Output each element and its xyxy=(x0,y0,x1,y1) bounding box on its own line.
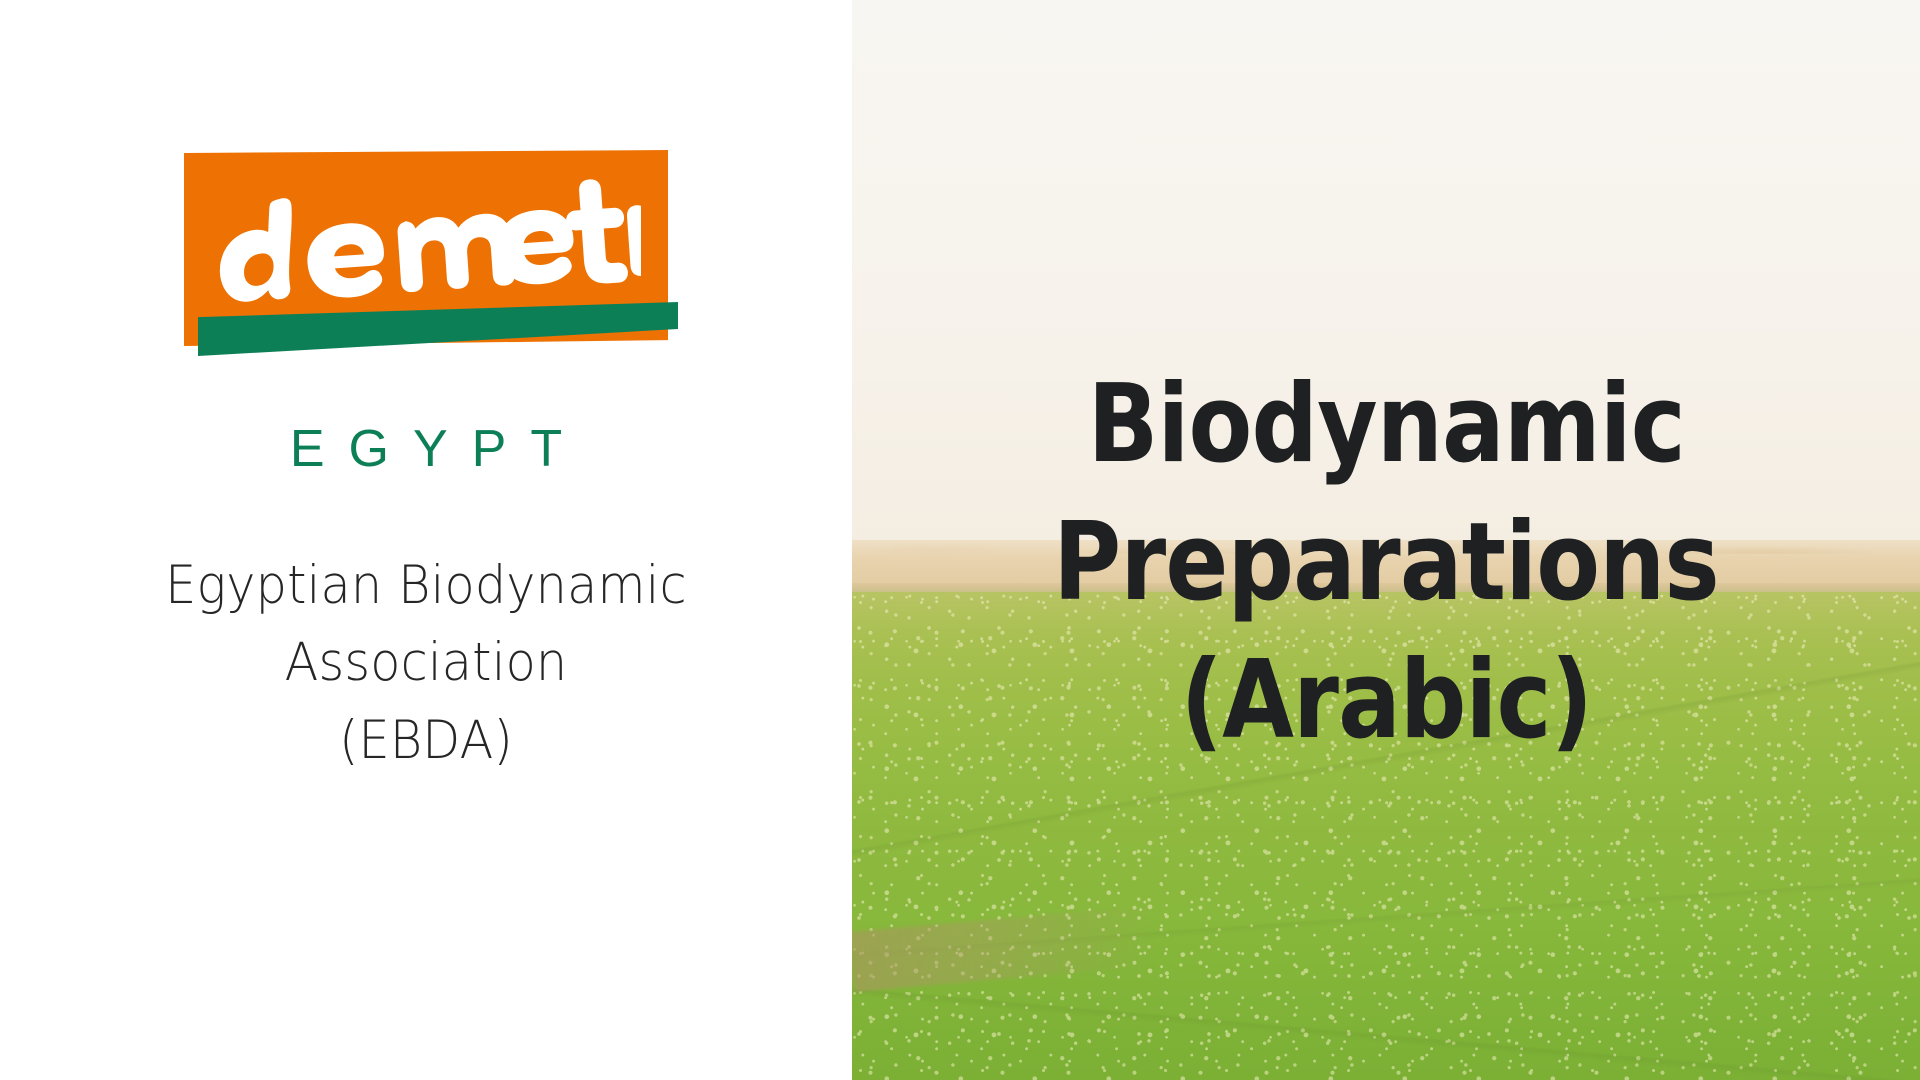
brand-block: EGYPT Egyptian Biodynamic Association (E… xyxy=(0,150,852,779)
organization-name-line-1: Egyptian Biodynamic xyxy=(101,547,752,624)
right-photo-panel xyxy=(852,0,1920,1080)
photo-field-tracks xyxy=(852,592,1920,1080)
organization-name: Egyptian Biodynamic Association (EBDA) xyxy=(101,547,752,779)
organization-name-line-2: Association xyxy=(101,624,752,701)
country-label-egypt: EGYPT xyxy=(266,423,586,475)
slide-canvas: EGYPT Egyptian Biodynamic Association (E… xyxy=(0,0,1920,1080)
left-brand-panel: EGYPT Egyptian Biodynamic Association (E… xyxy=(0,0,852,1080)
demeter-logo xyxy=(184,150,668,365)
photo-sky xyxy=(852,0,1920,545)
organization-name-line-3: (EBDA) xyxy=(101,702,752,779)
photo-dune-horizon xyxy=(852,540,1920,586)
